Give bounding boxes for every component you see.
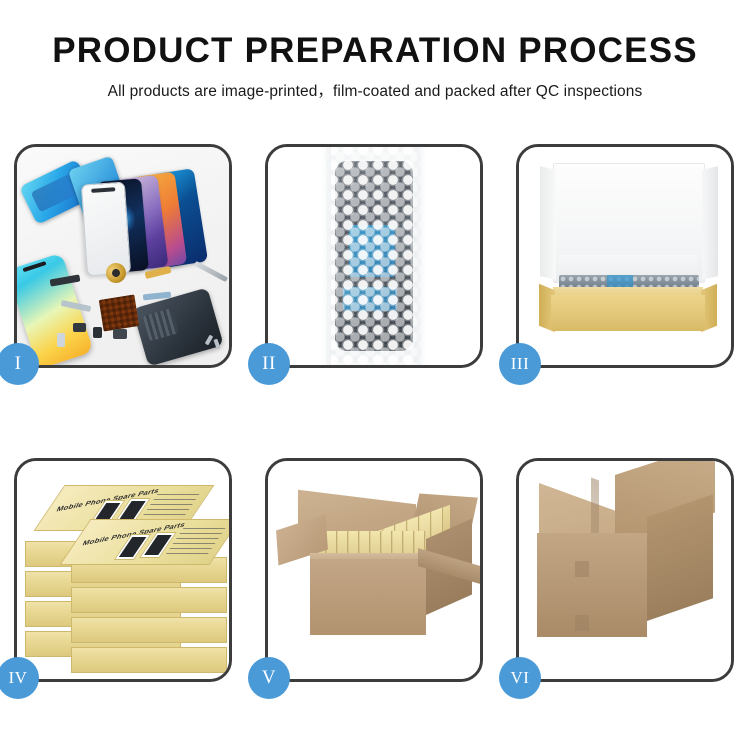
page-subtitle: All products are image-printed，film-coat… bbox=[0, 81, 750, 103]
step-panel-4: Mobile Phone Spare Parts Mobile Phone Sp… bbox=[14, 458, 232, 682]
carton-tab-lower bbox=[575, 615, 589, 631]
header: PRODUCT PREPARATION PROCESS All products… bbox=[0, 30, 750, 103]
stacked-box-right-3 bbox=[71, 617, 227, 643]
box-stack: Mobile Phone Spare Parts Mobile Phone Sp… bbox=[23, 479, 229, 671]
sealed-carton-side-face bbox=[647, 494, 713, 621]
step-badge-2: II bbox=[248, 343, 290, 385]
stacked-box-right-2 bbox=[71, 587, 227, 613]
step-panel-1: I bbox=[14, 144, 232, 368]
page-title: PRODUCT PREPARATION PROCESS bbox=[0, 30, 750, 72]
step-panel-6: VI bbox=[516, 458, 734, 682]
step-4-image: Mobile Phone Spare Parts Mobile Phone Sp… bbox=[17, 461, 229, 679]
step-badge-6: VI bbox=[499, 657, 541, 699]
box-front-face bbox=[551, 295, 705, 331]
products-assortment-scene bbox=[17, 147, 229, 365]
step-panel-2: II bbox=[265, 144, 483, 368]
step-panel-3: III bbox=[516, 144, 734, 368]
step-badge-1: I bbox=[0, 343, 39, 385]
chip-grid-part bbox=[99, 294, 140, 331]
step-badge-4: IV bbox=[0, 657, 39, 699]
labeled-box-top-2: Mobile Phone Spare Parts bbox=[59, 519, 229, 565]
small-component-1 bbox=[73, 323, 86, 332]
wrap-edge-right bbox=[417, 147, 426, 365]
wrap-edge-left bbox=[322, 147, 331, 365]
labeled-boxes-stack-scene: Mobile Phone Spare Parts Mobile Phone Sp… bbox=[17, 461, 229, 679]
small-component-4 bbox=[57, 333, 65, 347]
step-1-image bbox=[17, 147, 229, 365]
bubble-texture bbox=[326, 147, 422, 365]
step-5-image bbox=[268, 461, 480, 679]
phone-screen-white bbox=[81, 182, 131, 277]
step-3-image bbox=[519, 147, 731, 365]
carton-front-face bbox=[310, 559, 426, 635]
product-preparation-infographic: PRODUCT PREPARATION PROCESS All products… bbox=[0, 0, 750, 750]
process-steps-grid: I II bbox=[14, 144, 736, 684]
small-component-3 bbox=[113, 329, 127, 339]
carton-tab-upper bbox=[575, 561, 589, 577]
step-badge-3: III bbox=[499, 343, 541, 385]
sealed-carton-scene bbox=[519, 461, 731, 679]
carton-filling-scene bbox=[268, 461, 480, 679]
sealed-carton-front-face bbox=[537, 533, 647, 637]
bubble-wrapping-scene bbox=[268, 147, 480, 365]
step-2-image bbox=[268, 147, 480, 365]
step-6-image bbox=[519, 461, 731, 679]
inner-box-packing-scene bbox=[519, 147, 731, 365]
small-component-2 bbox=[93, 327, 102, 338]
stacked-box-right-4 bbox=[71, 647, 227, 673]
phone-screen-fan bbox=[83, 161, 229, 269]
step-panel-5: V bbox=[265, 458, 483, 682]
step-badge-5: V bbox=[248, 657, 290, 699]
